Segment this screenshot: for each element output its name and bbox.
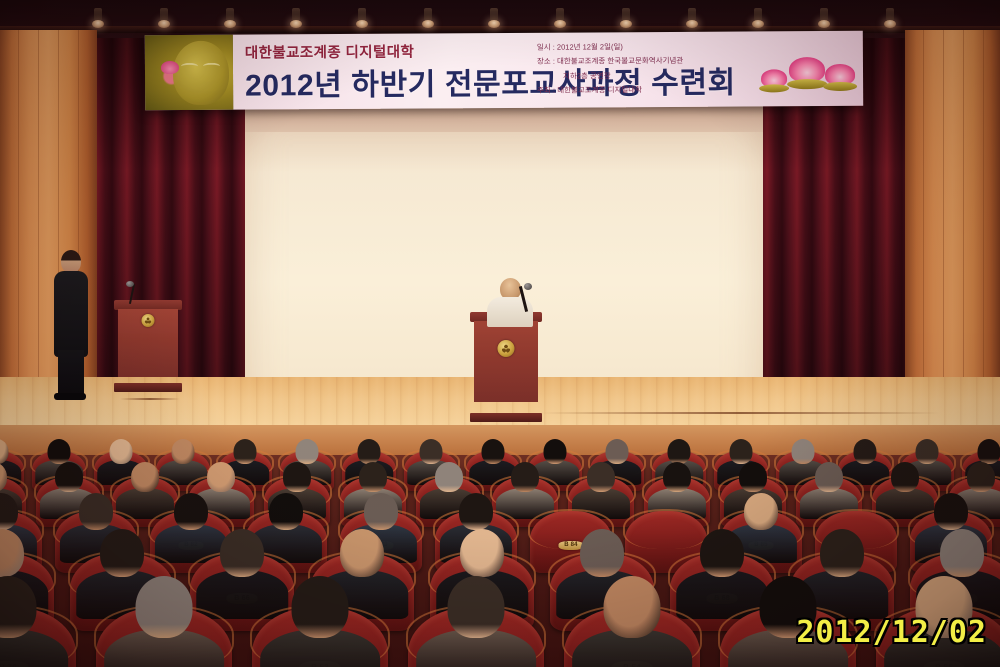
audience-head (605, 439, 628, 464)
attendant-torso (54, 271, 88, 357)
lotus-pad-2 (787, 79, 827, 89)
banner-info-block: 일시 : 2012년 12월 2일(일) 장소 : 대한불교조계종 한국불교문화… (537, 40, 747, 98)
audience-head (0, 576, 37, 638)
audience-head (269, 493, 303, 530)
audience-head (580, 529, 624, 577)
audience-head (815, 462, 843, 492)
attendant-man (52, 250, 90, 400)
lotus-pad-3 (823, 82, 857, 91)
auditorium-photo: 대한불교조계종 디지털대학 2012년 하반기 전문포교사과정 수련회 일시 :… (0, 0, 1000, 667)
spotlight-icon (92, 8, 104, 30)
audience-head (109, 439, 132, 464)
audience-head (233, 439, 256, 464)
audience-head (171, 439, 194, 464)
spotlight-icon (620, 8, 632, 30)
buddha-face-art (173, 41, 229, 105)
banner-host-line: 주최 : 대한불교조계종 디지털대학 (537, 82, 747, 98)
audience-head (79, 493, 113, 530)
main-microphone-head (524, 283, 532, 290)
jogye-emblem-icon-side (142, 314, 155, 327)
audience-head (820, 529, 864, 577)
jogye-emblem-icon-main (498, 340, 515, 357)
audience-head (100, 529, 144, 577)
buddha-face-icon (145, 35, 233, 111)
audience-head (359, 462, 387, 492)
audience-head (283, 462, 311, 492)
spotlight-icon (356, 8, 368, 30)
audience-head (739, 462, 767, 492)
audience-head (744, 493, 778, 530)
attendant-legs (58, 350, 84, 395)
pillar-right (905, 30, 1000, 422)
audience-head (357, 439, 380, 464)
spotlight-icon (884, 8, 896, 30)
audience-head (543, 439, 566, 464)
stage-cable-left (120, 398, 180, 400)
main-podium-front (474, 321, 537, 402)
camera-date-stamp: 2012/12/02 (796, 615, 987, 650)
audience-head (0, 529, 24, 577)
audience-head (940, 529, 984, 577)
audience-member (0, 576, 69, 667)
audience-head (977, 439, 1000, 464)
stage-cable-right (540, 412, 940, 414)
banner-date-line: 일시 : 2012년 12월 2일(일) (537, 40, 747, 56)
spotlight-icon (158, 8, 170, 30)
audience-head (174, 493, 208, 530)
spotlight-icon (422, 8, 434, 30)
audience-head (603, 576, 660, 638)
audience-head (447, 576, 504, 638)
audience-head (853, 439, 876, 464)
audience-head (460, 529, 504, 577)
audience-head (419, 439, 442, 464)
lotus-icon-2 (789, 57, 825, 82)
audience-head (0, 462, 7, 492)
audience-head (934, 493, 968, 530)
audience-head (47, 439, 70, 464)
audience-head (587, 462, 615, 492)
audience-head (291, 576, 348, 638)
lotus-icon-small (161, 61, 179, 74)
audience-head (340, 529, 384, 577)
audience-head (459, 493, 493, 530)
banner-venue-line: 장소 : 대한불교조계종 한국불교문화역사기념관 (537, 54, 747, 70)
audience-head (967, 462, 995, 492)
speaker-robe (487, 297, 533, 327)
audience-head (295, 439, 318, 464)
event-banner: 대한불교조계종 디지털대학 2012년 하반기 전문포교사과정 수련회 일시 :… (145, 31, 863, 110)
lotus-icon-3 (825, 64, 855, 85)
audience-head (0, 493, 18, 530)
audience-head (131, 462, 159, 492)
side-podium-base (114, 383, 182, 392)
lotus-icon-1 (761, 69, 787, 87)
spotlight-icon (488, 8, 500, 30)
audience-head (729, 439, 752, 464)
audience-head (481, 439, 504, 464)
lotus-pad-1 (759, 84, 789, 92)
audience-head (700, 529, 744, 577)
audience-head (667, 439, 690, 464)
audience-head (364, 493, 398, 530)
audience-head (0, 439, 9, 464)
audience-head (891, 462, 919, 492)
side-podium (114, 300, 182, 392)
spotlight-icon (752, 8, 764, 30)
audience-head (791, 439, 814, 464)
side-microphone-head (126, 281, 134, 287)
audience-head (220, 529, 264, 577)
audience-head (207, 462, 235, 492)
lotus-flowers-icon (743, 31, 863, 107)
spotlight-icon (554, 8, 566, 30)
audience-head (915, 439, 938, 464)
audience-member (103, 576, 225, 667)
spotlight-icon (224, 8, 236, 30)
audience-head (435, 462, 463, 492)
main-podium-base (470, 413, 542, 422)
audience-head (663, 462, 691, 492)
spotlight-icon (686, 8, 698, 30)
banner-venue-line2: 지하2층 공연장 (537, 68, 747, 84)
audience-member (259, 576, 381, 667)
audience-member (415, 576, 537, 667)
attendant-head (61, 250, 81, 273)
main-podium (470, 312, 542, 422)
spotlight-icon (818, 8, 830, 30)
audience-head (135, 576, 192, 638)
audience-head (55, 462, 83, 492)
spotlight-icon (290, 8, 302, 30)
attendant-shoes (54, 393, 86, 400)
audience-head (511, 462, 539, 492)
audience-member (571, 576, 693, 667)
